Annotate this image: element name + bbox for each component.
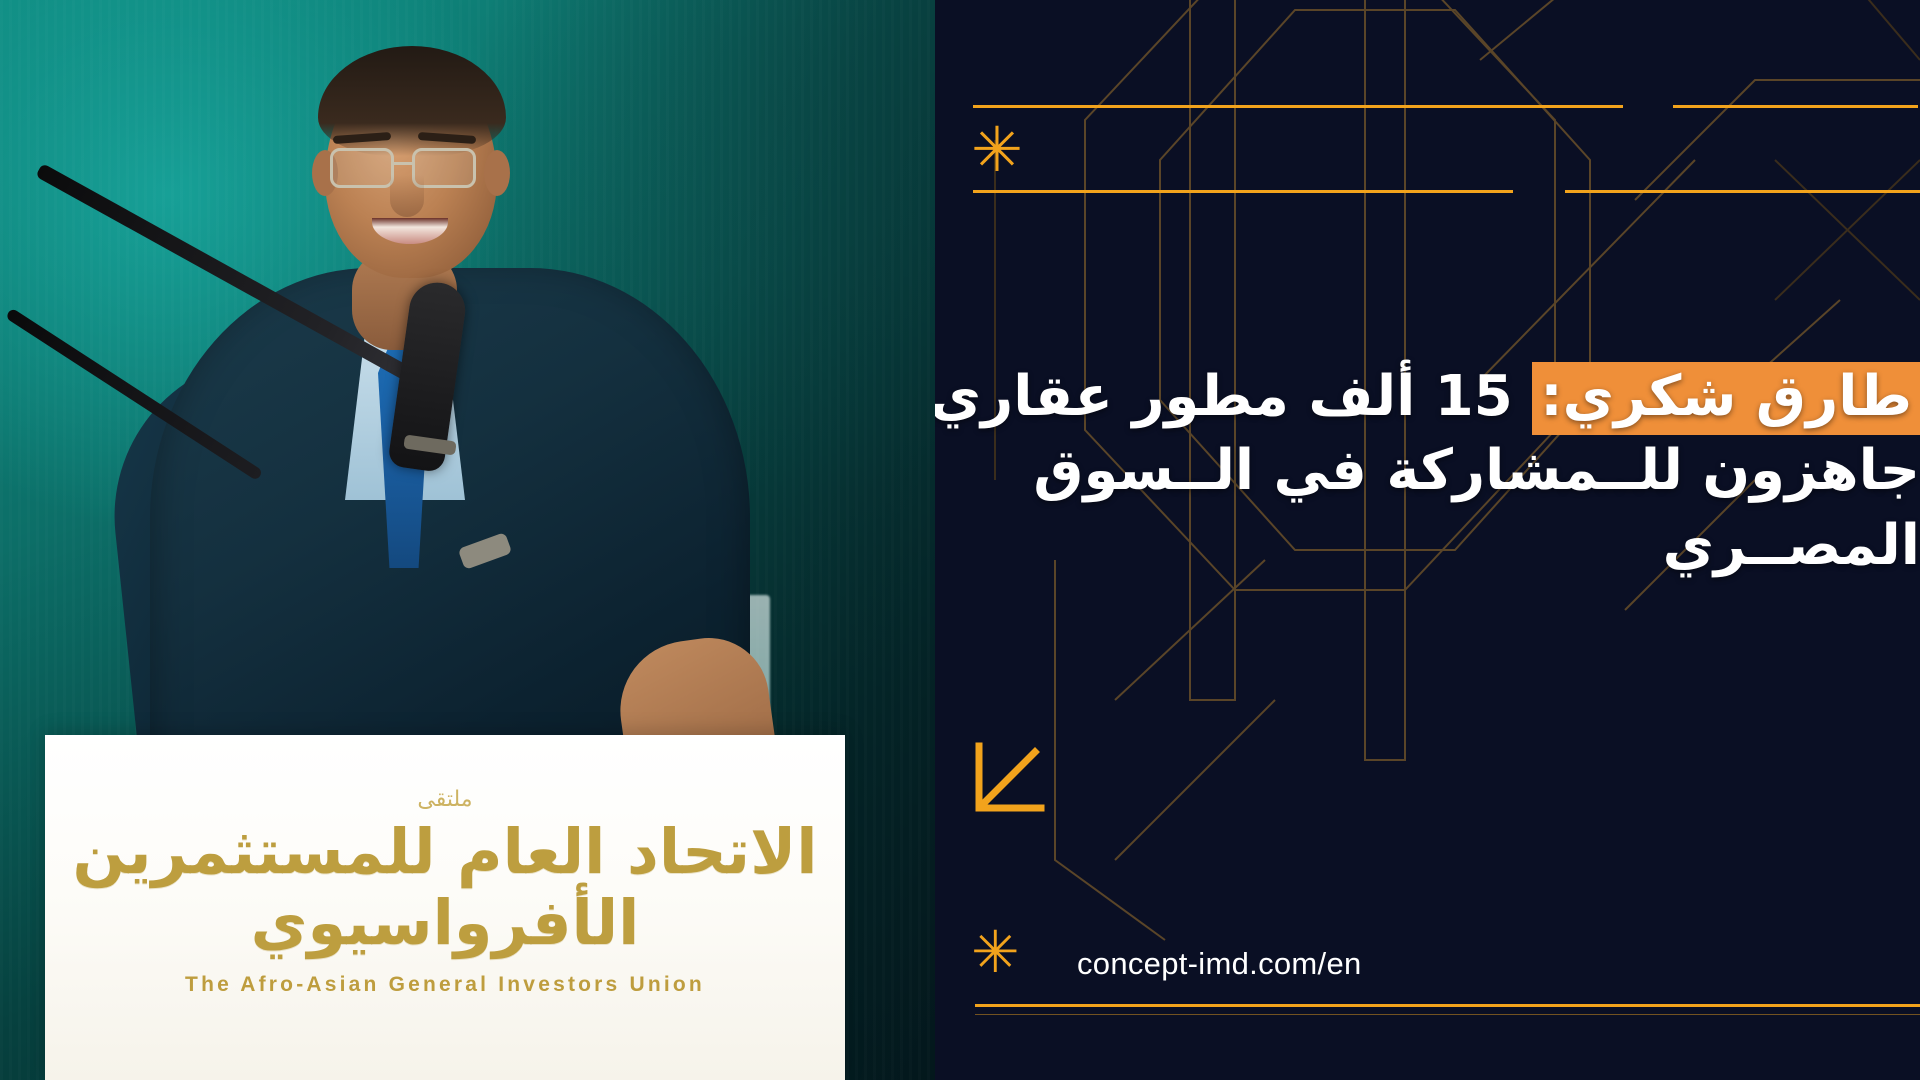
- podium-logo-ornament: ملتقى: [45, 787, 845, 812]
- speaker-eyeglass-left: [330, 148, 394, 188]
- headline-line-1-rest: 15 ألف مطور عقاري: [935, 364, 1532, 429]
- speaker-ear-right: [484, 150, 510, 196]
- speaker-photo: ملتقى الاتحاد العام للمستثمرين الأفرواسي…: [0, 0, 935, 1080]
- podium-logo-english: The Afro-Asian General Investors Union: [45, 973, 845, 997]
- top-rule-left: [973, 105, 1623, 108]
- speaker-eyeglass-bridge: [394, 162, 414, 165]
- top-decor-rules: ✳: [935, 0, 1920, 210]
- footer-rule: [975, 1004, 1920, 1007]
- podium: ملتقى الاتحاد العام للمستثمرين الأفرواسي…: [45, 735, 845, 1080]
- second-rule-right: [1565, 190, 1920, 193]
- podium-logo: ملتقى الاتحاد العام للمستثمرين الأفرواسي…: [45, 787, 845, 997]
- news-card-canvas: ملتقى الاتحاد العام للمستثمرين الأفرواسي…: [0, 0, 1920, 1080]
- headline-line-1: طارق شكري: 15 ألف مطور عقاري: [969, 360, 1920, 434]
- asterisk-icon-footer: ✳: [971, 924, 1020, 982]
- headline: طارق شكري: 15 ألف مطور عقاري جاهزون للــ…: [959, 360, 1920, 583]
- headline-highlight: طارق شكري:: [1532, 362, 1920, 435]
- top-rule-right: [1673, 105, 1918, 108]
- asterisk-icon-top: ✳: [971, 120, 1023, 182]
- footer-rule-secondary: [975, 1014, 1920, 1015]
- footer-url-bar: ✳ concept-imd.com/en: [935, 928, 1920, 1008]
- speaker-nose: [390, 175, 424, 217]
- headline-line-3: المصــري: [969, 509, 1920, 583]
- content-panel: ✳ طارق شكري: 15 ألف مطور عقاري جاهزون لل…: [935, 0, 1920, 1080]
- podium-logo-arabic: الاتحاد العام للمستثمرين الأفرواسيوي: [45, 816, 845, 959]
- headline-line-2: جاهزون للــمشاركة في الــسوق: [969, 434, 1920, 508]
- arrow-down-left-icon: [973, 742, 1045, 814]
- site-url[interactable]: concept-imd.com/en: [1077, 946, 1362, 982]
- second-rule-left: [973, 190, 1513, 193]
